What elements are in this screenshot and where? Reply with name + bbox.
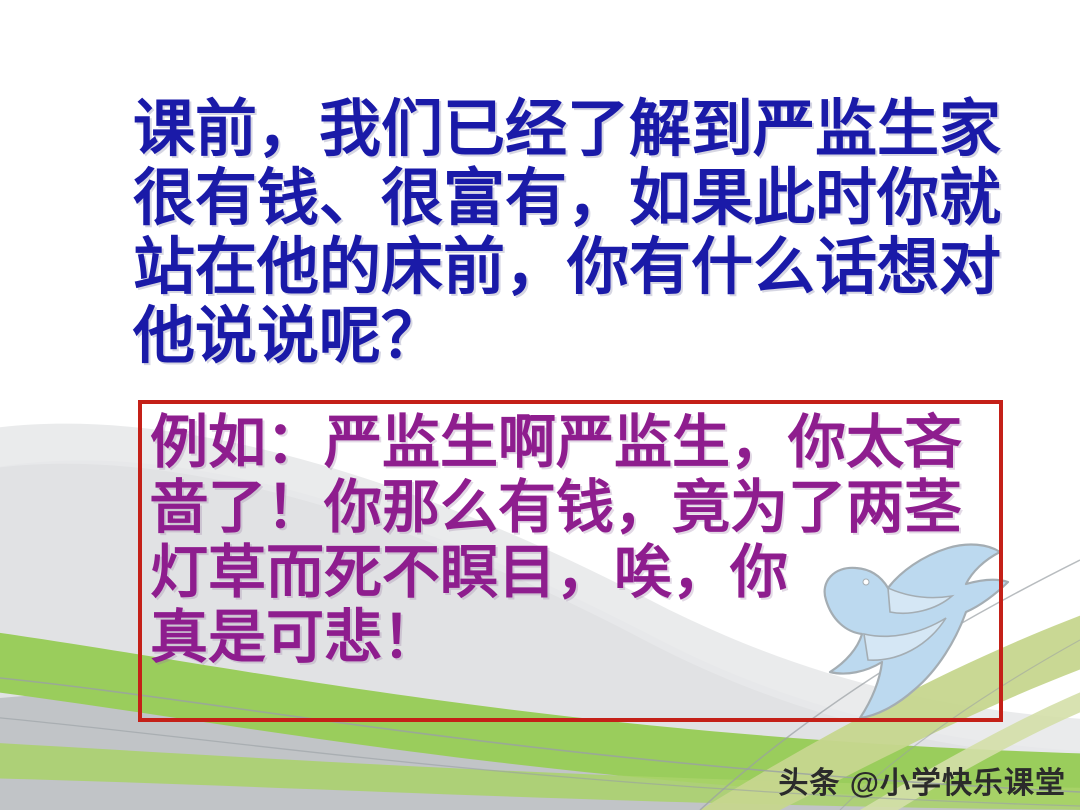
example-line-3: 灯草而死不瞑目，唉，你 xyxy=(150,540,1010,605)
channel-watermark: 头条 @小学快乐课堂 xyxy=(778,758,1066,802)
presentation-slide: 课前，我们已经了解到严监生家 很有钱、很富有，如果此时你就 站在他的床前，你有什… xyxy=(0,0,1080,810)
example-line-2: 啬了！你那么有钱，竟为了两茎 xyxy=(150,475,1010,540)
intro-line-4: 他说说呢？ xyxy=(133,303,998,372)
intro-line-1: 课前，我们已经了解到严监生家 xyxy=(133,96,998,165)
example-line-1: 例如：严监生啊严监生，你太吝 xyxy=(150,410,1010,475)
intro-paragraph: 课前，我们已经了解到严监生家 很有钱、很富有，如果此时你就 站在他的床前，你有什… xyxy=(133,96,998,372)
example-line-4: 真是可悲！ xyxy=(150,605,1010,670)
intro-line-3: 站在他的床前，你有什么话想对 xyxy=(133,234,998,303)
intro-line-2: 很有钱、很富有，如果此时你就 xyxy=(133,165,998,234)
example-answer-text: 例如：严监生啊严监生，你太吝 啬了！你那么有钱，竟为了两茎 灯草而死不瞑目，唉，… xyxy=(150,410,1010,670)
